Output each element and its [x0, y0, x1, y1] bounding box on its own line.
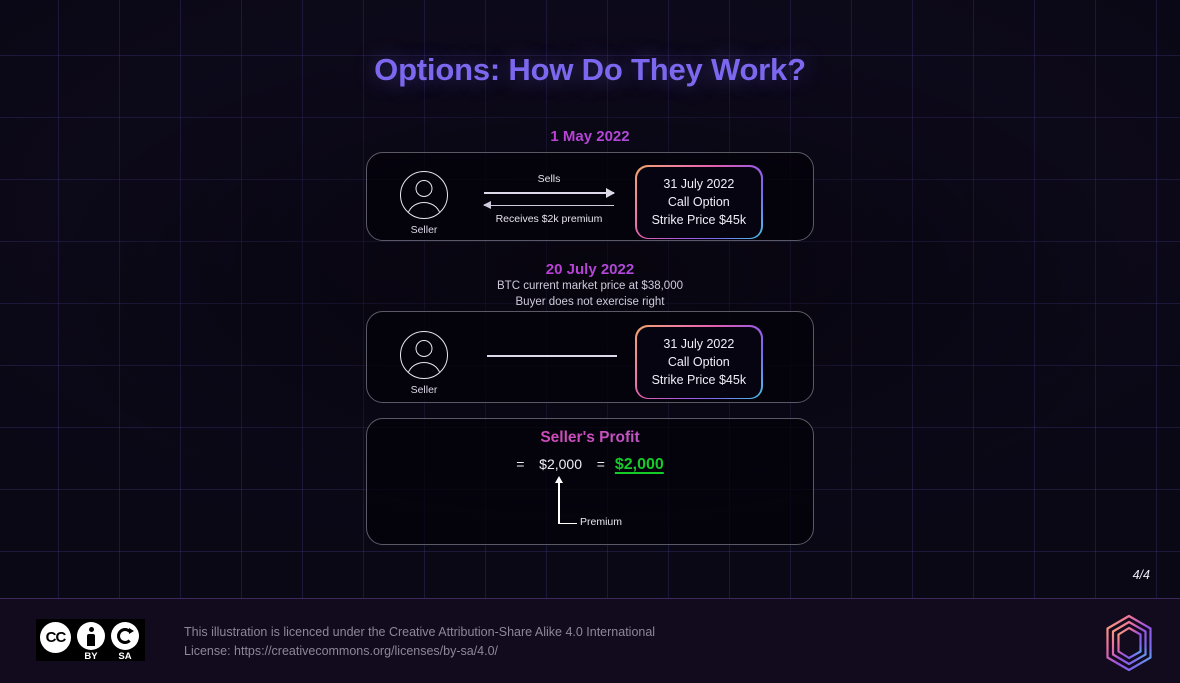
option-type: Call Option: [652, 193, 746, 211]
profit-equation: = $2,000 = $2,000: [0, 456, 1180, 474]
brand-logo-icon: [1104, 614, 1154, 672]
section-2-seller: Seller: [388, 331, 460, 396]
section-1-date-heading: 1 May 2022: [0, 128, 1180, 145]
flow-bottom-label: Receives $2k premium: [484, 212, 614, 226]
license-line-2: License: https://creativecommons.org/lic…: [184, 642, 655, 661]
section-2-note-line-2: Buyer does not exercise right: [0, 295, 1180, 311]
arrow-left-line: [484, 205, 614, 206]
page-indicator: 4/4: [1133, 568, 1150, 582]
callout-horizontal-line: [558, 523, 577, 524]
license-line-1: This illustration is licenced under the …: [184, 623, 655, 642]
cc-sa-label: SA: [118, 651, 131, 662]
arrow-right-line: [484, 192, 614, 194]
equals-sign-1: =: [516, 456, 524, 472]
creative-commons-icon: CC: [40, 622, 71, 653]
section-2-option-card: 31 July 2022 Call Option Strike Price $4…: [635, 325, 763, 399]
profit-result: $2,000: [615, 456, 664, 473]
arrow-left-head-icon: [483, 201, 491, 209]
premium-label: Premium: [580, 516, 622, 528]
section-2-notes: BTC current market price at $38,000 Buye…: [0, 279, 1180, 310]
cc-mark-item: CC: [40, 622, 71, 653]
option-expiry: 31 July 2022: [652, 335, 746, 353]
arrow-right: [484, 186, 614, 199]
person-icon-body: [407, 362, 441, 380]
person-icon-head: [416, 340, 433, 357]
attribution-person-icon: [77, 622, 105, 650]
option-type: Call Option: [652, 353, 746, 371]
section-1-option-card: 31 July 2022 Call Option Strike Price $4…: [635, 165, 763, 239]
section-1-seller-label: Seller: [388, 224, 460, 236]
callout-vertical-line: [558, 482, 559, 524]
flow-top-label: Sells: [484, 172, 614, 186]
person-icon: [400, 171, 448, 219]
option-strike: Strike Price $45k: [652, 211, 746, 229]
arrow-right-head-icon: [606, 188, 615, 198]
cc-by-label: BY: [84, 651, 97, 662]
section-2-note-line-1: BTC current market price at $38,000: [0, 279, 1180, 295]
person-icon-head: [416, 180, 433, 197]
section-2-seller-label: Seller: [388, 384, 460, 396]
slide-stage: Options: How Do They Work? 1 May 2022 Se…: [0, 0, 1180, 598]
slide-root: Options: How Do They Work? 1 May 2022 Se…: [0, 0, 1180, 683]
cc-by-item: BY: [77, 622, 105, 662]
person-icon: [400, 331, 448, 379]
section-2-connector-line: [487, 355, 617, 357]
section-1-seller: Seller: [388, 171, 460, 236]
equals-sign-2: =: [597, 456, 605, 472]
arrow-left: [484, 199, 614, 212]
page-title: Options: How Do They Work?: [0, 52, 1180, 88]
option-strike: Strike Price $45k: [652, 371, 746, 389]
section-2-date-heading: 20 July 2022: [0, 261, 1180, 278]
cc-sa-item: SA: [111, 622, 139, 662]
share-alike-icon: [111, 622, 139, 650]
section-1-flow: Sells Receives $2k premium: [484, 172, 614, 226]
option-expiry: 31 July 2022: [652, 175, 746, 193]
license-text: This illustration is licenced under the …: [184, 623, 655, 660]
creative-commons-badge: CC BY SA: [36, 619, 145, 661]
sellers-profit-heading: Seller's Profit: [0, 429, 1180, 447]
profit-amount: $2,000: [539, 456, 582, 472]
person-icon-body: [407, 202, 441, 220]
